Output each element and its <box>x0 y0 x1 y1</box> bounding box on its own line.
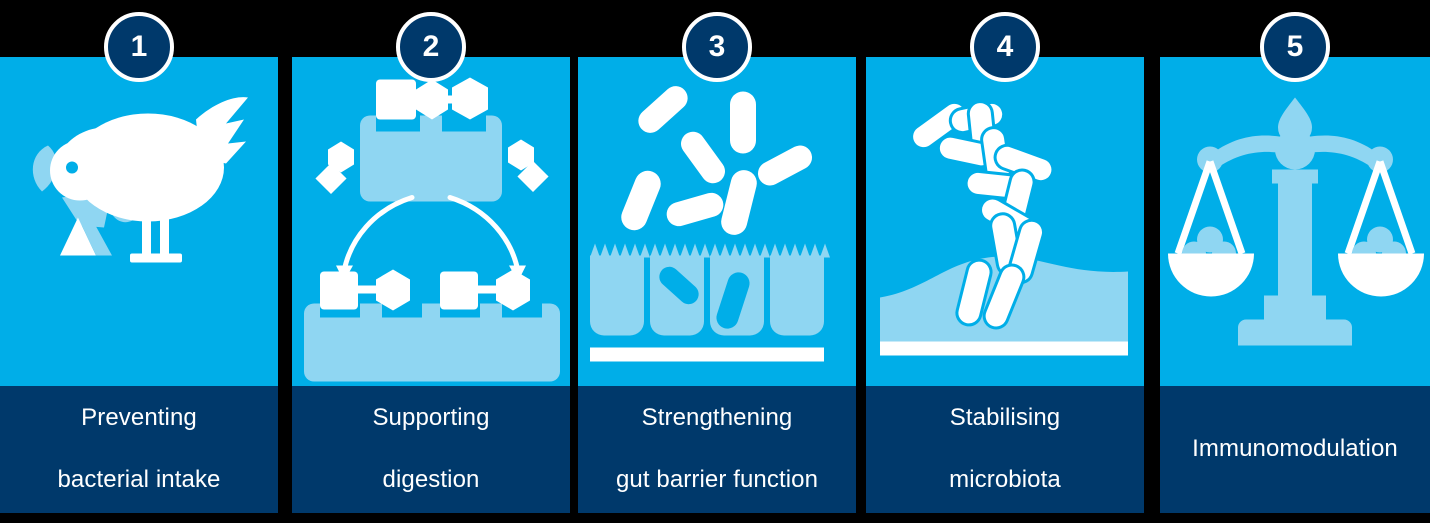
badge-step-5-number: 5 <box>1287 32 1304 62</box>
badge-step-4[interactable]: 4 <box>970 12 1040 82</box>
chicken-pecking-feed-icon <box>0 57 278 386</box>
panel-4-caption-line2: microbiota <box>949 465 1061 496</box>
panel-2-icon-area <box>292 57 570 386</box>
balance-scales-icon <box>1160 57 1430 386</box>
panel-4-caption-text: Stabilisingmicrobiota <box>949 403 1061 495</box>
panel-2-caption: Supportingdigestion <box>292 386 570 513</box>
panel-1-icon-area <box>0 57 278 386</box>
panel-4-icon-area <box>866 57 1144 386</box>
panel-1-preventing-bacterial-intake[interactable]: Preventingbacterial intake <box>0 57 278 513</box>
panel-3-caption-line1: Strengthening <box>616 403 818 434</box>
panel-5-caption-text: Immunomodulation <box>1192 434 1398 465</box>
badge-step-2[interactable]: 2 <box>396 12 466 82</box>
panel-5-caption-line1: Immunomodulation <box>1192 434 1398 465</box>
panel-4-caption: Stabilisingmicrobiota <box>866 386 1144 513</box>
panel-5-immunomodulation[interactable]: Immunomodulation <box>1160 57 1430 513</box>
infographic-board: Preventingbacterial intake <box>0 0 1430 523</box>
badge-step-2-number: 2 <box>423 32 440 62</box>
panel-1-caption-text: Preventingbacterial intake <box>57 403 220 495</box>
panel-1-caption-line1: Preventing <box>57 403 220 434</box>
panel-3-strengthening-gut-barrier-function[interactable]: Strengtheninggut barrier function <box>578 57 856 513</box>
panel-4-caption-line1: Stabilising <box>949 403 1061 434</box>
badge-step-5[interactable]: 5 <box>1260 12 1330 82</box>
panel-3-caption: Strengtheninggut barrier function <box>578 386 856 513</box>
badge-step-1-number: 1 <box>131 32 148 62</box>
panel-3-caption-text: Strengtheninggut barrier function <box>616 403 818 495</box>
badge-step-3[interactable]: 3 <box>682 12 752 82</box>
panel-2-supporting-digestion[interactable]: Supportingdigestion <box>292 57 570 513</box>
panel-2-caption-line1: Supporting <box>372 403 489 434</box>
gut-barrier-villi-bacteria-icon <box>578 57 856 386</box>
panel-1-caption-line2: bacterial intake <box>57 465 220 496</box>
bacteria-cluster-mucus-layer-icon <box>866 57 1144 386</box>
panel-1-caption: Preventingbacterial intake <box>0 386 278 513</box>
panel-3-caption-line2: gut barrier function <box>616 465 818 496</box>
panel-2-caption-line2: digestion <box>372 465 489 496</box>
badge-step-1[interactable]: 1 <box>104 12 174 82</box>
badge-step-4-number: 4 <box>997 32 1014 62</box>
panel-5-icon-area <box>1160 57 1430 386</box>
panel-4-stabilising-microbiota[interactable]: Stabilisingmicrobiota <box>866 57 1144 513</box>
enzyme-substrate-splitting-icon <box>292 57 570 386</box>
panel-3-icon-area <box>578 57 856 386</box>
panel-5-caption: Immunomodulation <box>1160 386 1430 513</box>
badge-step-3-number: 3 <box>709 32 726 62</box>
panel-2-caption-text: Supportingdigestion <box>372 403 489 495</box>
